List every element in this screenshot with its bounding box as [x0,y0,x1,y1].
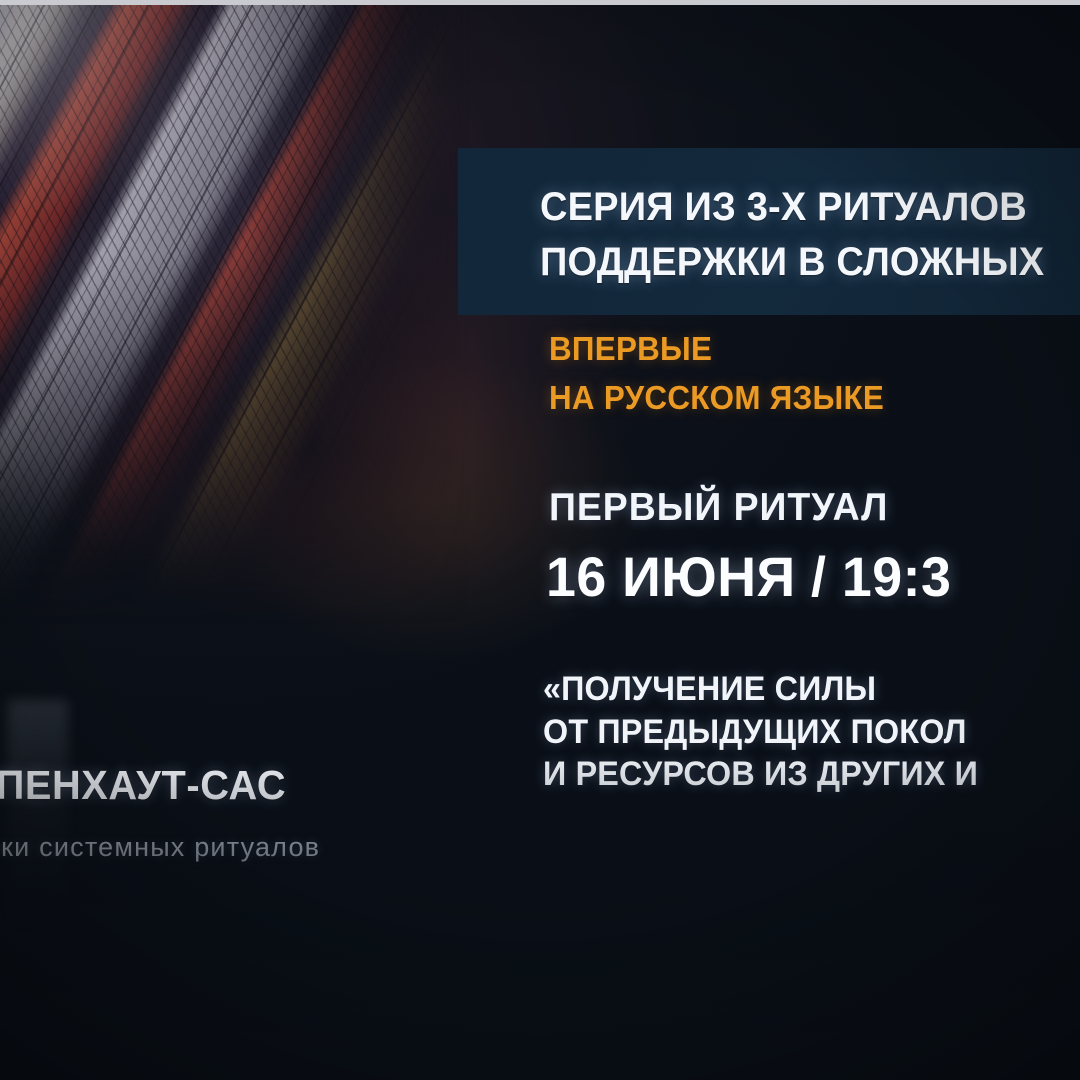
ritual-quote-text: «ПОЛУЧЕНИЕ СИЛЫ ОТ ПРЕДЫДУЩИХ ПОКОЛ И РЕ… [543,668,978,796]
first-time-line-1: ВПЕРВЫЕ [549,325,884,374]
headline-line-2: ПОДДЕРЖКИ В СЛОЖНЫХ [540,235,1044,290]
first-ritual-label: ПЕРВЫЙ РИТУАЛ [549,486,888,530]
leaf-photo-shading [0,5,470,625]
light-wisp-decoration [8,700,68,930]
promo-banner: СЕРИЯ ИЗ 3-Х РИТУАЛОВ ПОДДЕРЖКИ В СЛОЖНЫ… [0,0,1080,1080]
leaf-photo-image [0,5,470,625]
quote-line-2: ОТ ПРЕДЫДУЩИХ ПОКОЛ [543,711,978,754]
ritual-date-time: 16 ИЮНЯ / 19:3 [546,544,951,609]
first-time-line-2: НА РУССКОМ ЯЗЫКЕ [549,374,884,423]
quote-line-3: И РЕСУРСОВ ИЗ ДРУГИХ И [543,753,978,796]
headline-text: СЕРИЯ ИЗ 3-Х РИТУАЛОВ ПОДДЕРЖКИ В СЛОЖНЫ… [540,180,1044,290]
top-edge-strip [0,0,1080,5]
first-time-badge-text: ВПЕРВЫЕ НА РУССКОМ ЯЗЫКЕ [549,325,884,423]
author-role: ктики системных ритуалов [0,832,320,863]
headline-line-1: СЕРИЯ ИЗ 3-Х РИТУАЛОВ [540,180,1044,235]
quote-line-1: «ПОЛУЧЕНИЕ СИЛЫ [543,668,978,711]
author-name: МПЕНХАУТ-САС [0,762,286,809]
